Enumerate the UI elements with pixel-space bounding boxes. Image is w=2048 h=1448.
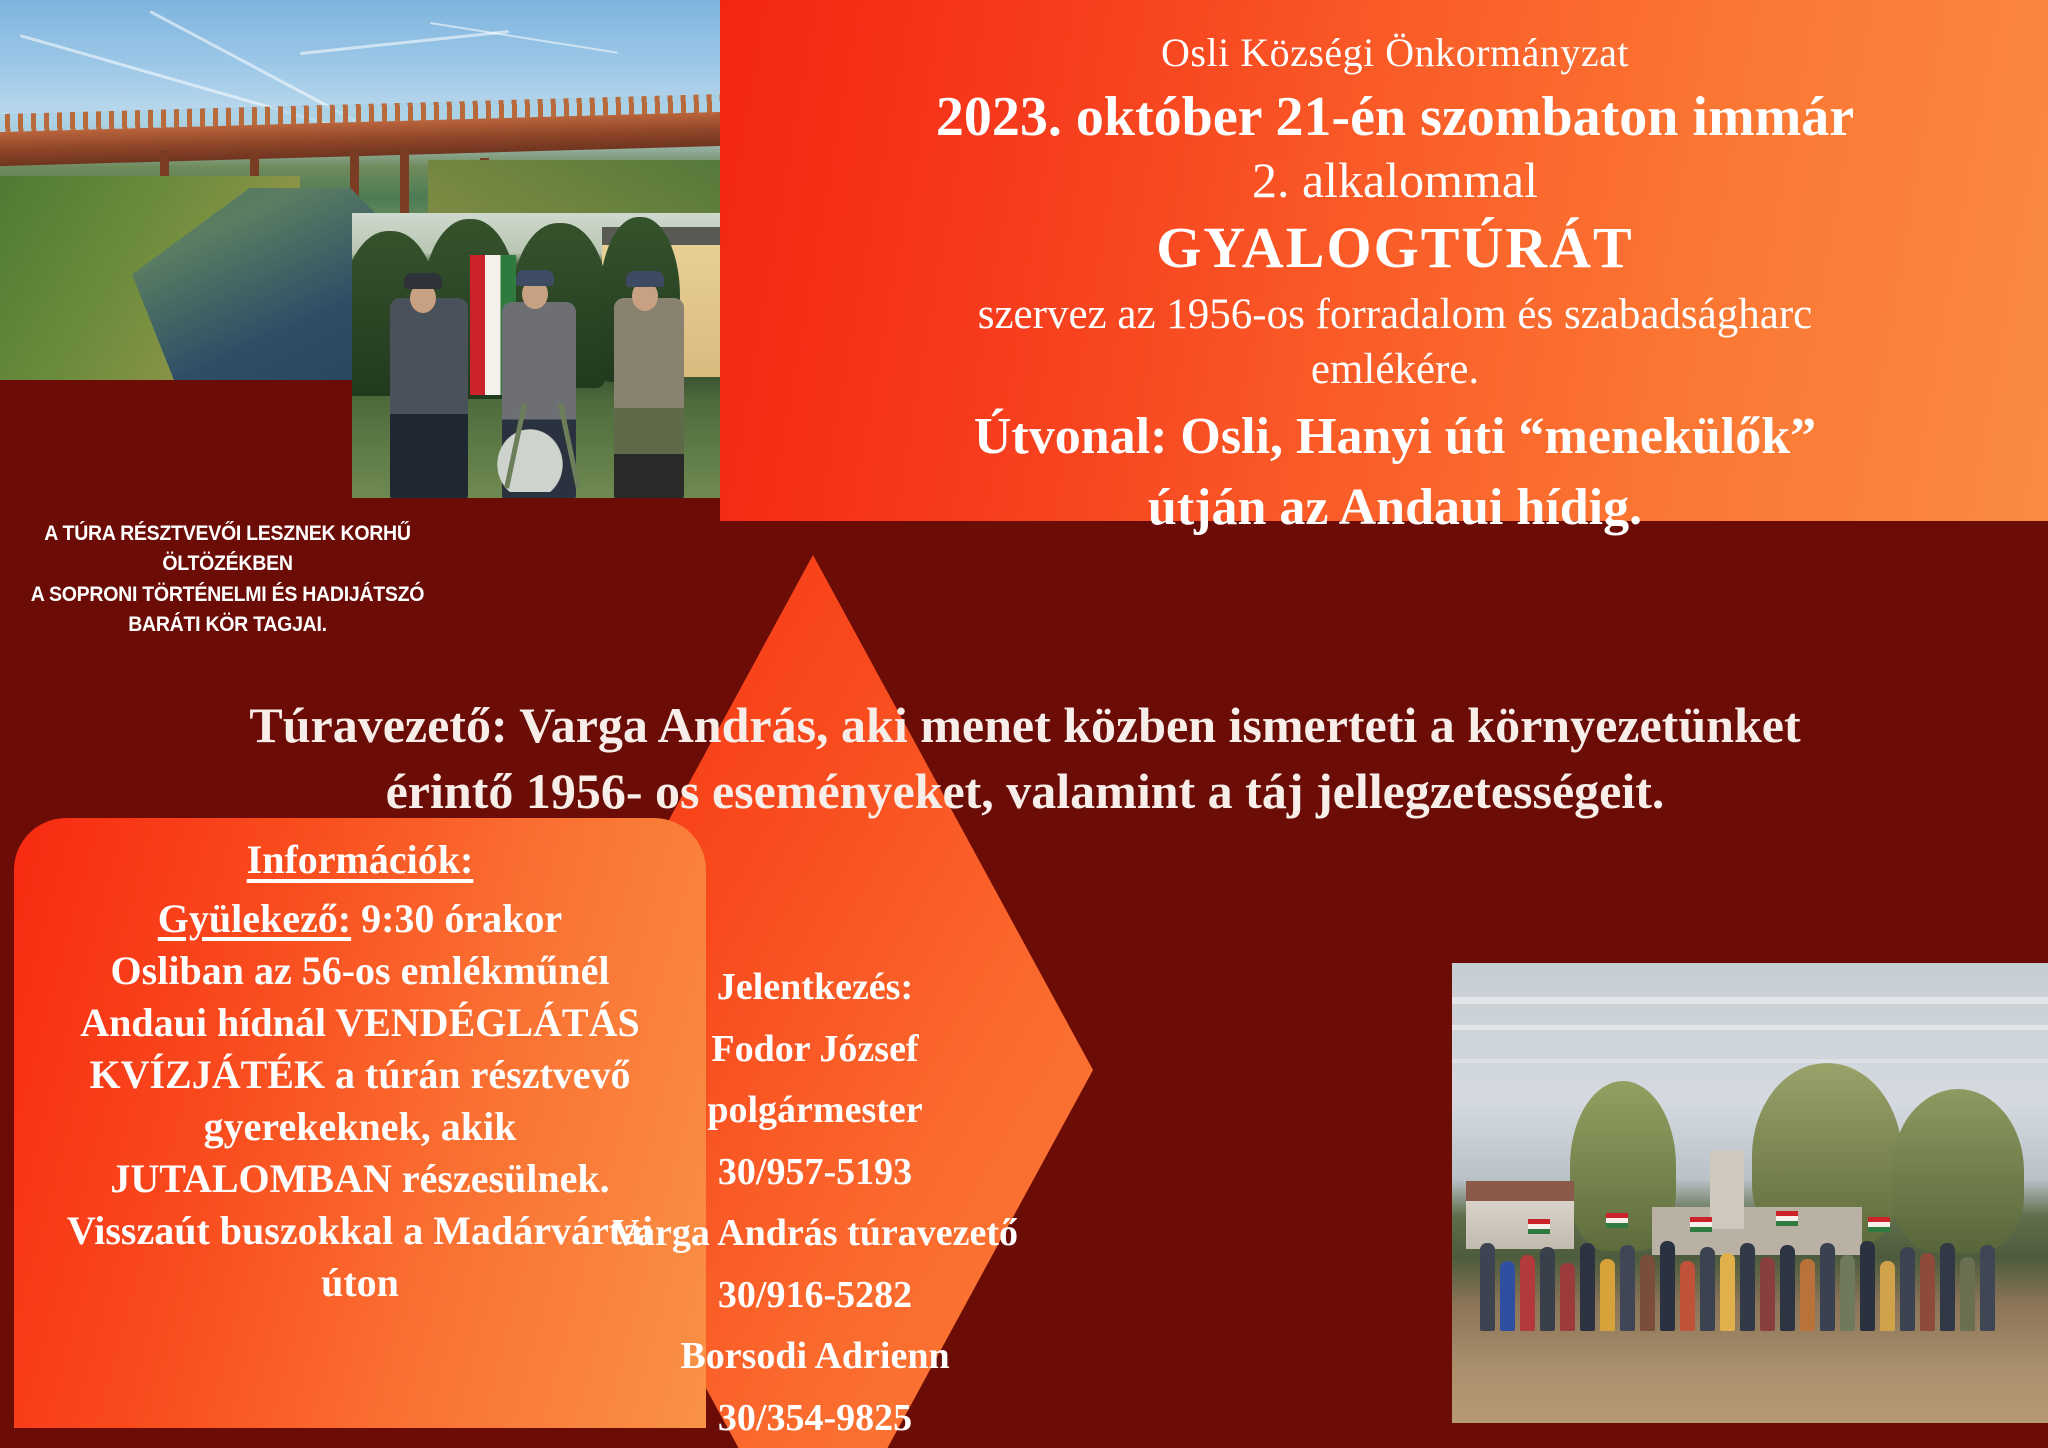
caption-line-1: A TÚRA RÉSZTVEVŐI LESZNEK KORHŰ ÖLTÖZÉKB… [7, 519, 449, 580]
reenactors-photo [352, 213, 720, 498]
registration-title: Jelentkezés: [600, 957, 1030, 1019]
info-line-6: Visszaút buszokkal a Madárvártai [38, 1205, 682, 1257]
contact-phone-2[interactable]: 30/916-5282 [600, 1265, 1030, 1327]
contact-phone-1[interactable]: 30/957-5193 [600, 1142, 1030, 1204]
info-line-3: KVÍZJÁTÉK a túrán résztvevő [38, 1049, 682, 1101]
caption-line-2: A SOPRONI TÖRTÉNELMI ÉS HADIJÁTSZÓ BARÁT… [7, 580, 449, 641]
occasion-line: 2. alkalommal [760, 150, 2030, 210]
organizer-line: Osli Községi Önkormányzat [760, 30, 2030, 76]
route-line-2: útján az Andaui hídig. [760, 475, 2030, 540]
registration-block: Jelentkezés: Fodor József polgármester 3… [600, 957, 1030, 1448]
meeting-label: Gyülekező: [158, 896, 351, 941]
tour-leader-line-2: érintő 1956- os eseményeket, valamint a … [120, 758, 1930, 824]
meeting-line: Gyülekező: 9:30 órakor [38, 893, 682, 945]
header-text-block: Osli Községi Önkormányzat 2023. október … [760, 30, 2030, 540]
group-photo [1452, 963, 2048, 1423]
route-line-1: Útvonal: Osli, Hanyi úti “menekülők” [760, 404, 2030, 469]
contact-name-2: Varga András túravezető [600, 1203, 1030, 1265]
contact-phone-3[interactable]: 30/354-9825 [600, 1388, 1030, 1448]
meeting-time: 9:30 órakor [351, 896, 562, 941]
event-date-line: 2023. október 21-én szombaton immár [760, 84, 2030, 150]
info-line-7: úton [38, 1257, 682, 1309]
info-line-2: Andaui hídnál VENDÉGLÁTÁS [38, 997, 682, 1049]
information-title: Információk: [38, 836, 682, 883]
info-line-4: gyerekeknek, akik [38, 1101, 682, 1153]
contact-name-1: Fodor József polgármester [600, 1019, 1030, 1142]
tour-leader-block: Túravezető: Varga András, aki menet közb… [120, 692, 1930, 824]
contact-name-3: Borsodi Adrienn [600, 1326, 1030, 1388]
reenactors-caption: A TÚRA RÉSZTVEVŐI LESZNEK KORHŰ ÖLTÖZÉKB… [7, 519, 449, 641]
event-title: GYALOGTÚRÁT [760, 212, 2030, 285]
poster-root: Osli Községi Önkormányzat 2023. október … [0, 0, 2048, 1448]
purpose-line-2: emlékére. [760, 342, 2030, 398]
tour-leader-line-1: Túravezető: Varga András, aki menet közb… [120, 692, 1930, 758]
purpose-line-1: szervez az 1956-os forradalom és szabads… [760, 287, 2030, 343]
info-line-1: Osliban az 56-os emlékműnél [38, 945, 682, 997]
info-line-5: JUTALOMBAN részesülnek. [38, 1153, 682, 1205]
